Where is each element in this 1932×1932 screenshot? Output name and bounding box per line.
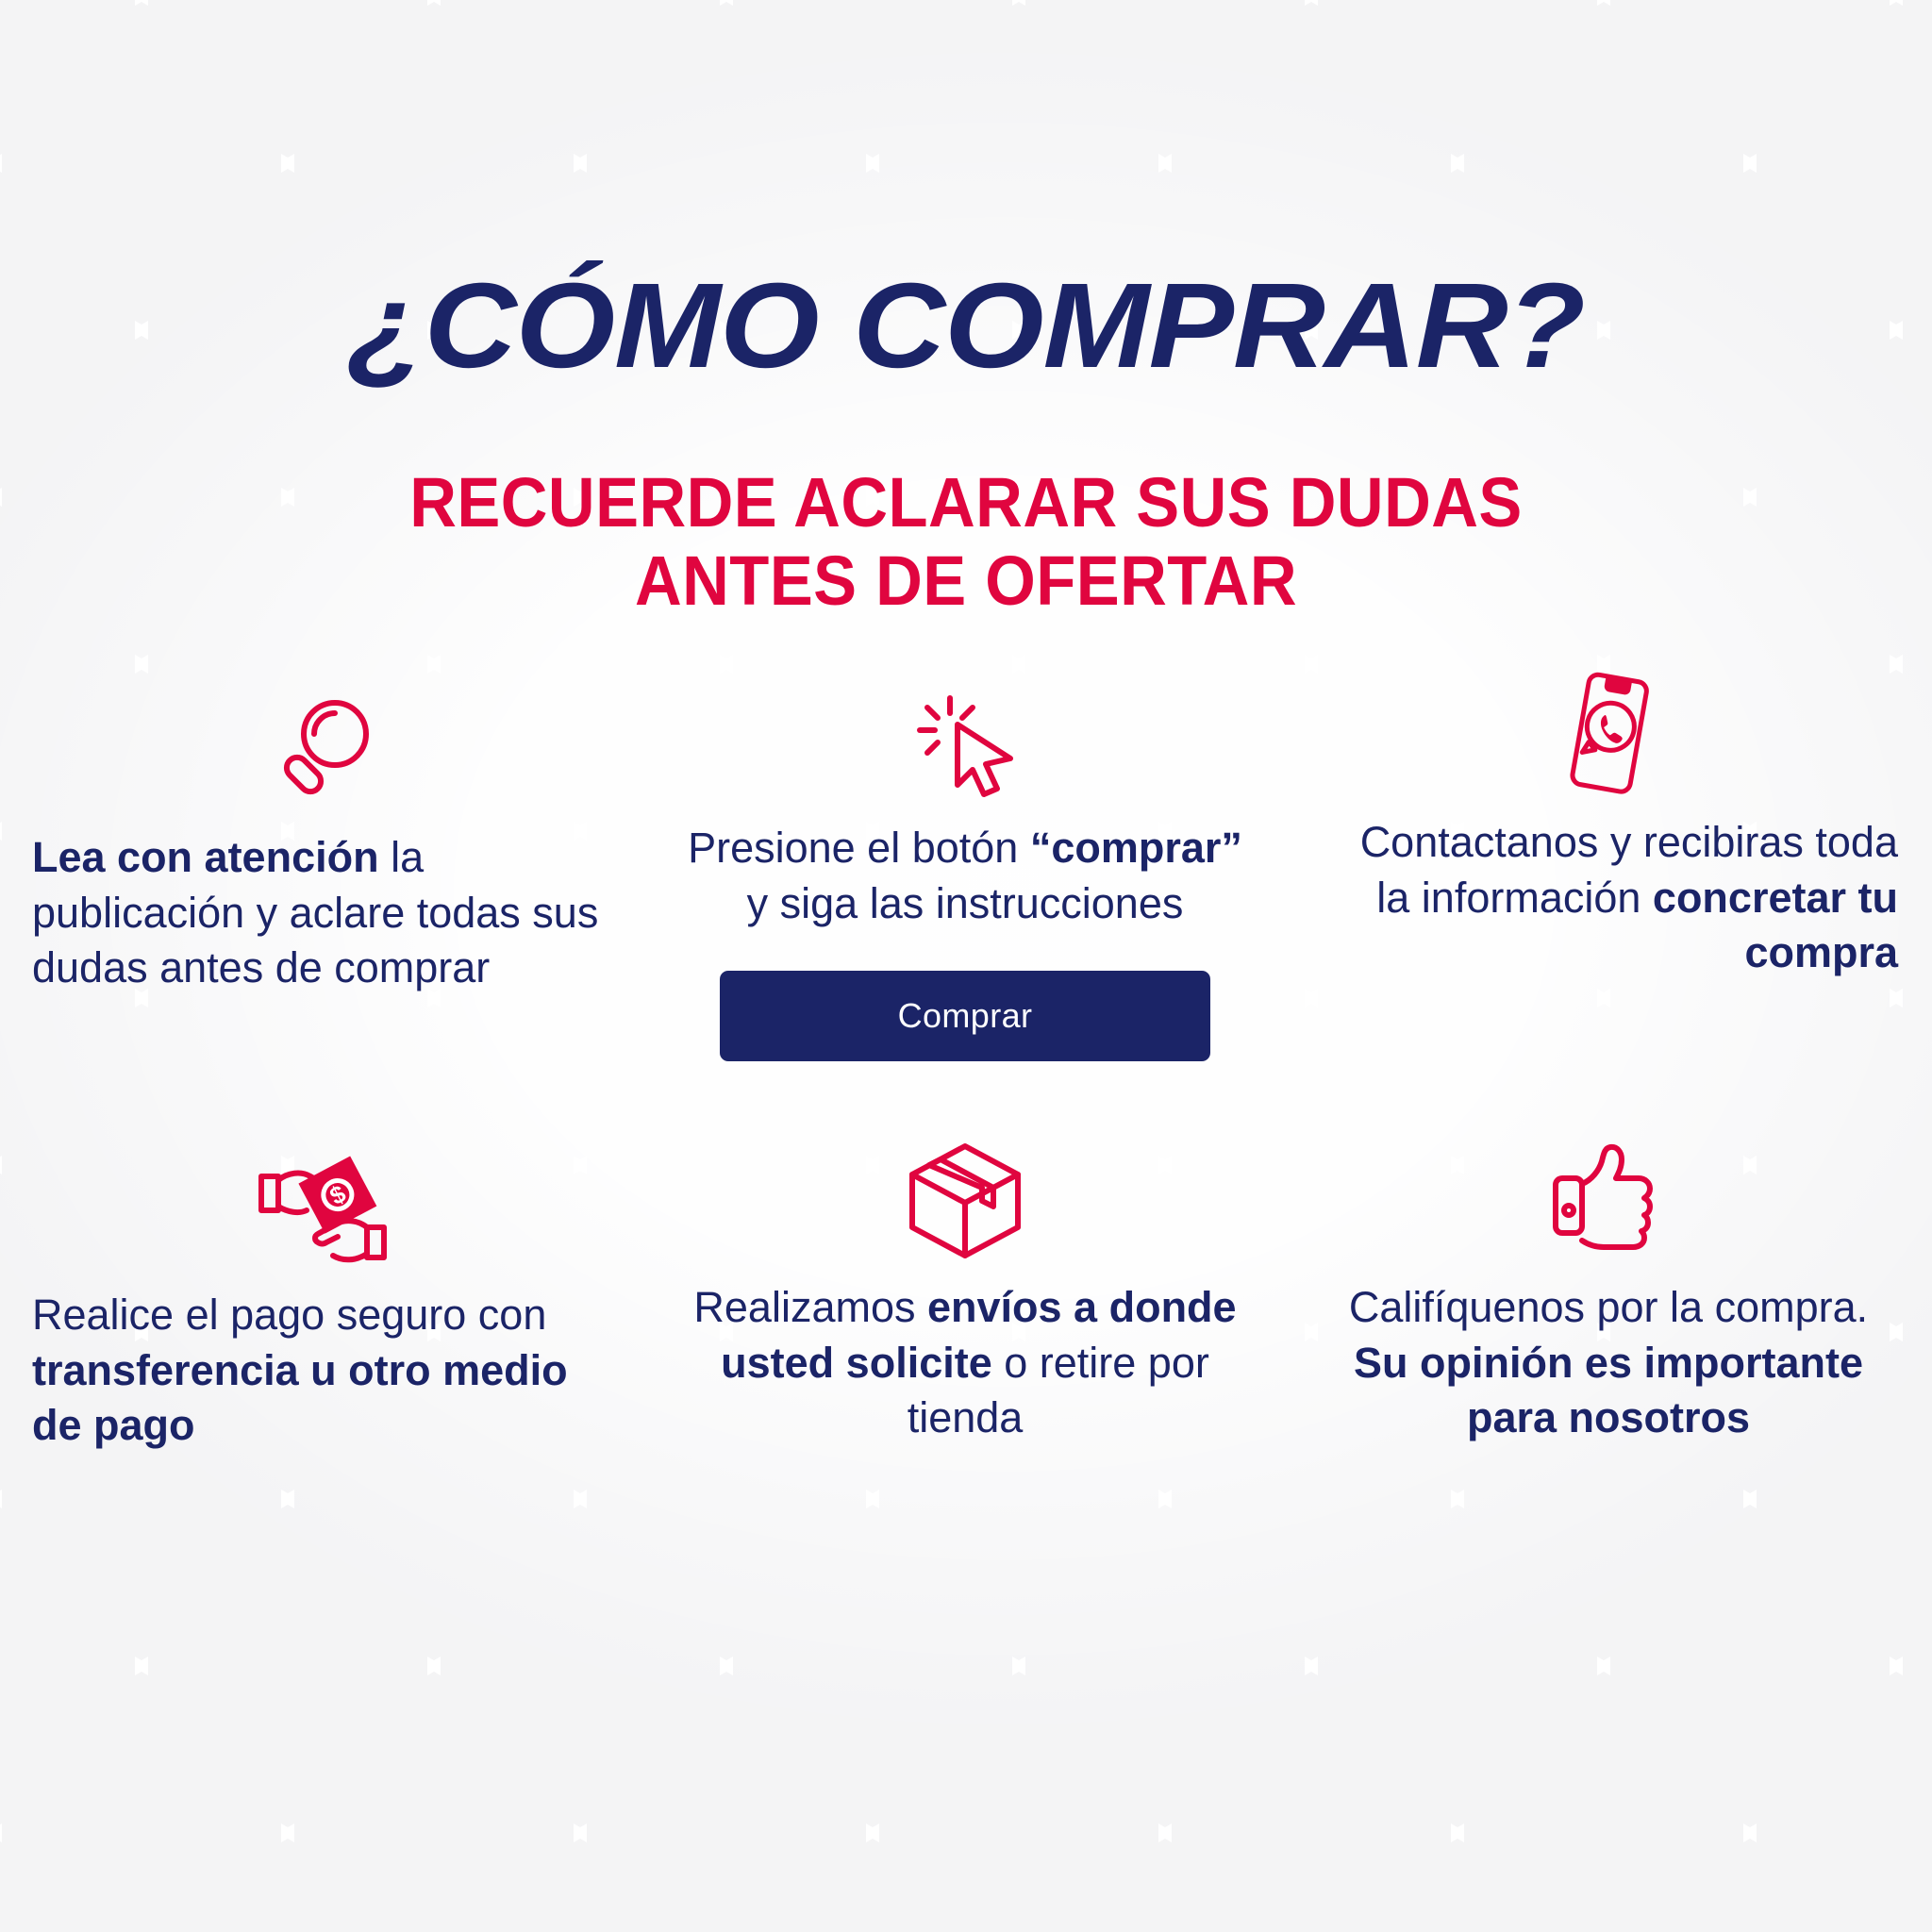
thumbs-up-icon xyxy=(1542,1133,1674,1265)
whatsapp-phone-icon-box xyxy=(1552,660,1665,800)
package-box-icon-box xyxy=(899,1124,1031,1265)
step-rate-us-text: Califíquenos por la compra. Su opinión e… xyxy=(1319,1280,1898,1446)
whatsapp-phone-icon xyxy=(1552,668,1665,800)
steps-row-top: Lea con atención la publicación y aclare… xyxy=(0,660,1932,1061)
money-hands-icon-box: $ xyxy=(246,1131,397,1273)
magnifier-icon xyxy=(265,692,378,815)
steps-row-bottom: $ Realice el pago seguro con transferenc… xyxy=(0,1124,1932,1454)
page-subtitle: RECUERDE ACLARAR SUS DUDAS ANTES DE OFER… xyxy=(68,464,1865,621)
step-press-buy: Presione el botón “comprar” y siga las i… xyxy=(643,660,1287,1061)
steps-grid: Lea con atención la publicación y aclare… xyxy=(0,660,1932,1454)
step-contact-us-text: Contactanos y recibiras toda la informac… xyxy=(1319,815,1898,981)
step-press-buy-text: Presione el botón “comprar” y siga las i… xyxy=(675,821,1255,931)
click-cursor-icon xyxy=(908,683,1022,806)
package-box-icon xyxy=(899,1133,1031,1265)
money-hands-icon: $ xyxy=(246,1141,397,1273)
click-cursor-icon-box xyxy=(908,666,1022,806)
step-shipping-text: Realizamos envíos a donde usted solicite… xyxy=(675,1280,1255,1446)
page-subtitle-line1: RECUERDE ACLARAR SUS DUDAS xyxy=(68,464,1865,542)
step-read-carefully-text: Lea con atención la publicación y aclare… xyxy=(32,830,611,996)
magnifier-icon-box xyxy=(265,675,378,815)
thumbs-up-icon-box xyxy=(1542,1124,1674,1265)
page-title-wrapper: ¿CÓMO COMPRAR? xyxy=(0,266,1932,387)
page-title: ¿CÓMO COMPRAR? xyxy=(347,266,1585,387)
step-secure-payment-text: Realice el pago seguro con transferencia… xyxy=(32,1288,611,1454)
step-rate-us: Califíquenos por la compra. Su opinión e… xyxy=(1287,1124,1930,1454)
step-read-carefully: Lea con atención la publicación y aclare… xyxy=(0,660,643,1061)
step-secure-payment: $ Realice el pago seguro con transferenc… xyxy=(0,1124,643,1454)
page-subtitle-line2: ANTES DE OFERTAR xyxy=(68,542,1865,621)
step-shipping: Realizamos envíos a donde usted solicite… xyxy=(643,1124,1287,1454)
comprar-button[interactable]: Comprar xyxy=(720,971,1210,1061)
step-contact-us: Contactanos y recibiras toda la informac… xyxy=(1287,660,1930,1061)
